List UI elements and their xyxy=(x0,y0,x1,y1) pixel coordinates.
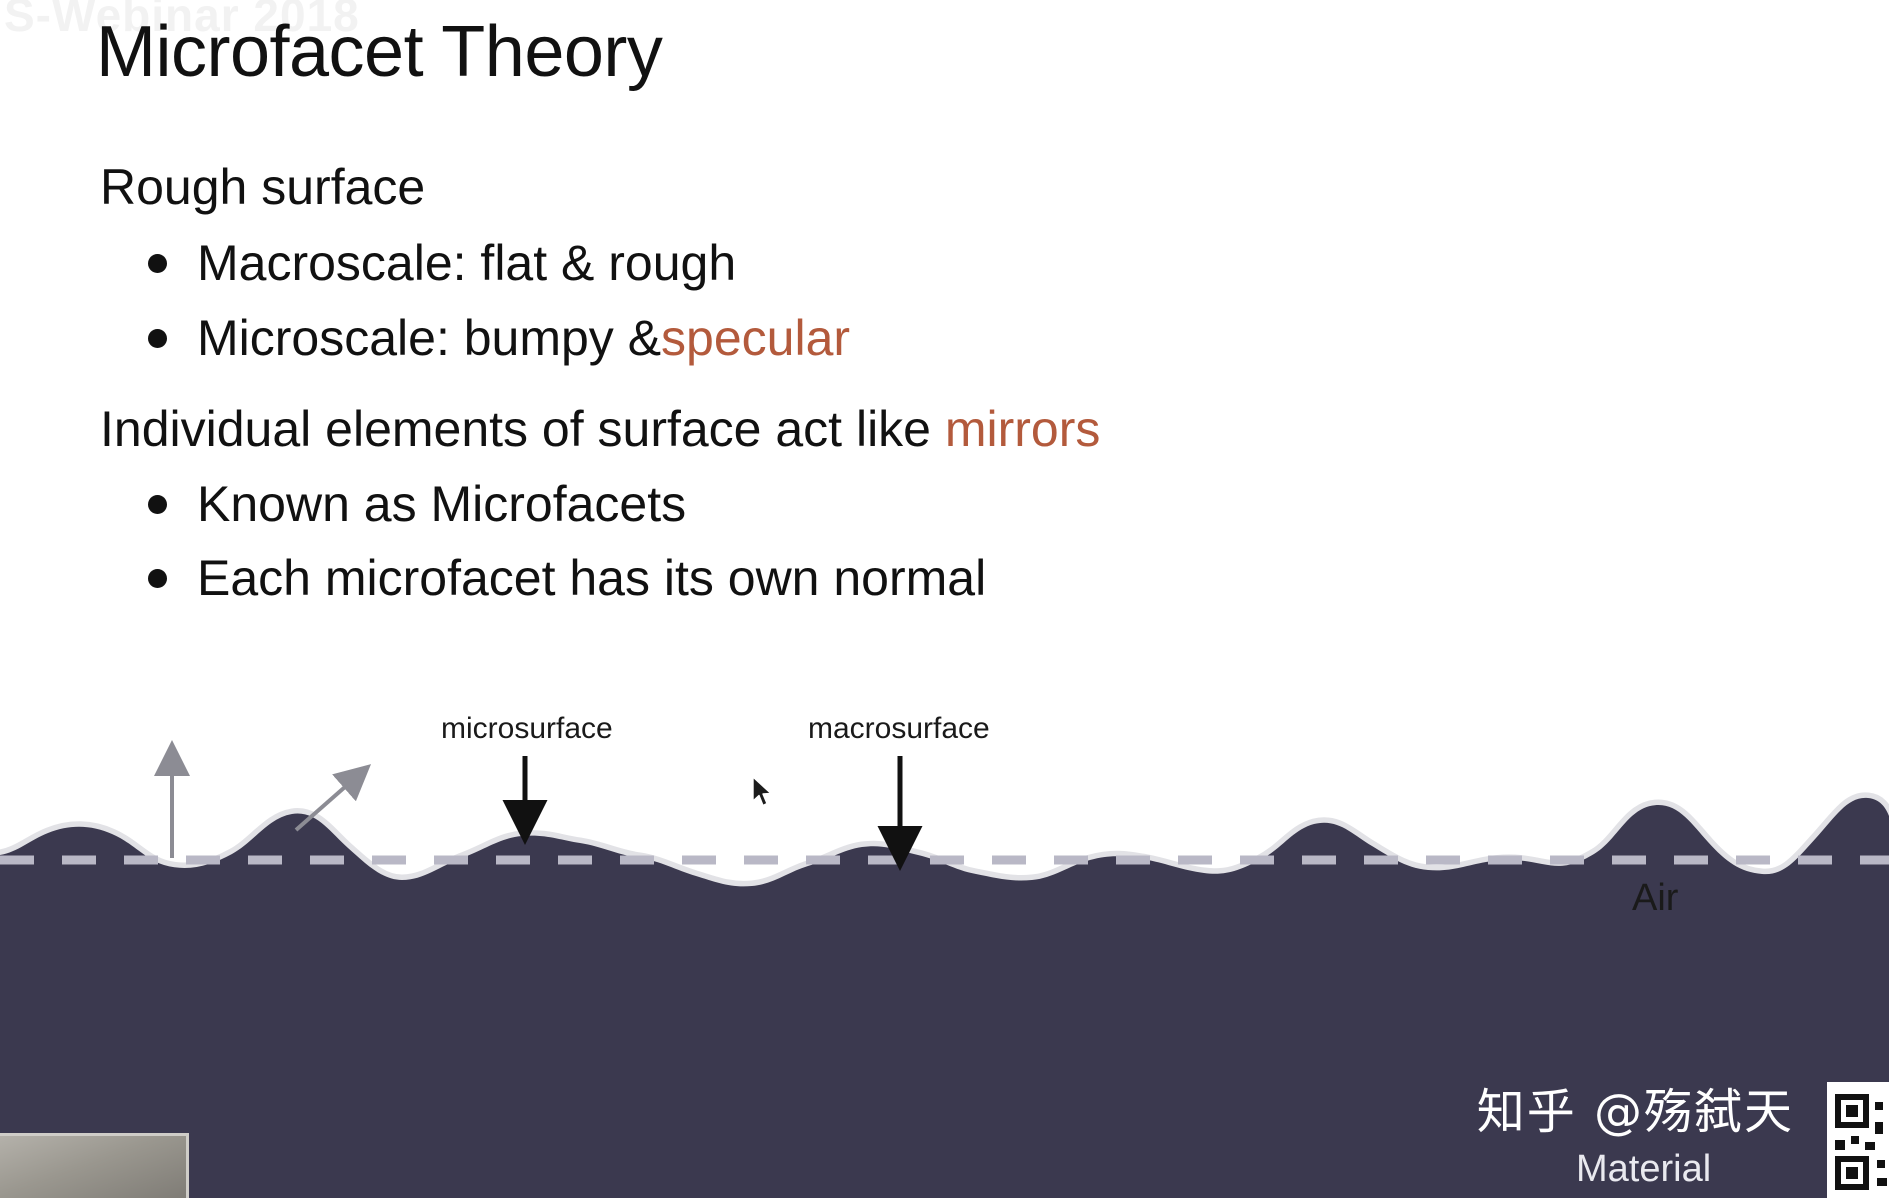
diagram-label-air: Air xyxy=(1632,877,1678,920)
section-heading-rough-surface: Rough surface xyxy=(100,162,425,212)
list-item: Macroscale: flat & rough xyxy=(148,238,736,288)
bullet-dot-icon xyxy=(148,329,167,348)
list-item: Microscale: bumpy & specular xyxy=(148,313,850,363)
bullet-dot-icon xyxy=(148,254,167,273)
bullet-accent-specular: specular xyxy=(661,313,850,363)
bullet-dot-icon xyxy=(148,569,167,588)
slide-canvas: S-Webinar 2018 Microfacet Theory Rough s… xyxy=(0,0,1889,1198)
presenter-webcam-pip[interactable] xyxy=(0,1133,189,1198)
diagram-label-macrosurface: macrosurface xyxy=(808,712,990,746)
mouse-cursor xyxy=(752,776,774,808)
bullet-dot-icon xyxy=(148,495,167,514)
bullet-label-macroscale: Macroscale: flat & rough xyxy=(197,238,736,288)
bullet-label-known-as-microfacets: Known as Microfacets xyxy=(197,479,686,529)
section-heading-text: Individual elements of surface act like xyxy=(100,401,945,457)
zhihu-watermark: 知乎 @殇弑天 xyxy=(1477,1072,1794,1142)
list-item: Each microfacet has its own normal xyxy=(148,553,986,603)
qr-code xyxy=(1827,1082,1889,1198)
section-heading-individual-elements: Individual elements of surface act like … xyxy=(100,404,1100,454)
diagram-label-material: Material xyxy=(1576,1148,1711,1191)
micro-normal-arrow xyxy=(296,772,362,830)
list-item: Known as Microfacets xyxy=(148,479,686,529)
section-heading-accent-mirrors: mirrors xyxy=(945,401,1101,457)
page-title: Microfacet Theory xyxy=(96,16,662,88)
bullet-label-each-microfacet-normal: Each microfacet has its own normal xyxy=(197,553,986,603)
bullet-label-microscale: Microscale: bumpy & xyxy=(197,313,661,363)
diagram-label-microsurface: microsurface xyxy=(441,712,613,746)
